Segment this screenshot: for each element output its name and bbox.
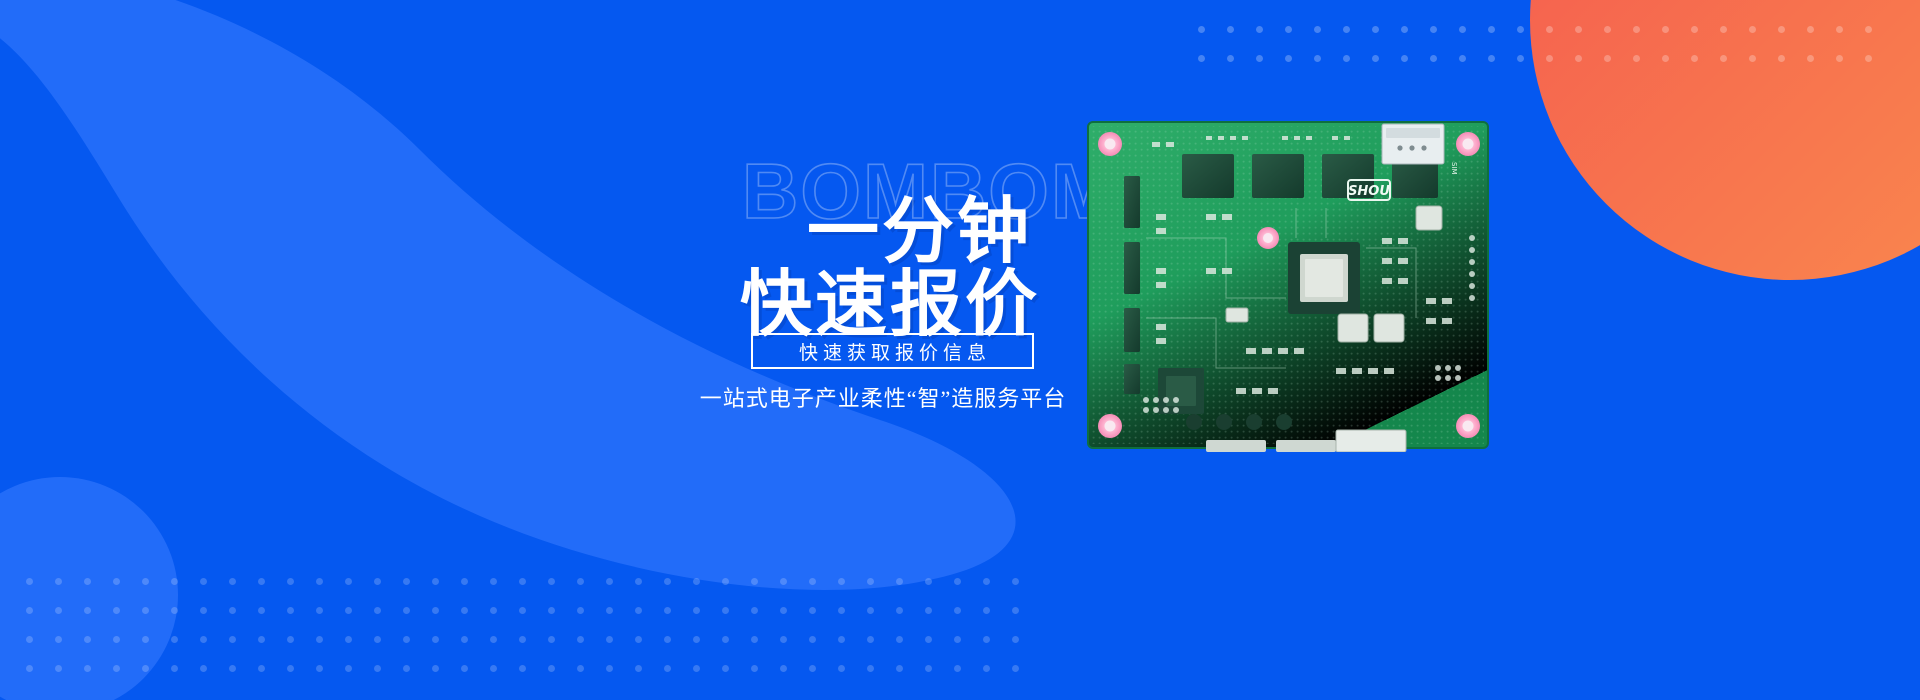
tagline: 一站式电子产业柔性“智”造服务平台 [683,381,1083,413]
pcb-qfp-chip [1158,368,1204,414]
pcb-main-processor [1288,242,1360,314]
get-quote-button[interactable]: 快速获取报价信息 [751,333,1034,369]
pcb-board-image: SIM SHOU [1086,118,1492,452]
svg-text:SHOU: SHOU [1348,184,1390,199]
headline-line-2: 快速报价 [740,269,1040,342]
headline-line-1: 一分钟 [740,196,1040,269]
promo-banner: BOMBOM 一分钟 快速报价 快速获取报价信息 一站式电子产业柔性“智”造服务… [0,0,1920,700]
hero-content: BOMBOM 一分钟 快速报价 快速获取报价信息 一站式电子产业柔性“智”造服务… [0,0,1920,700]
pcb-sim-label: SIM [1450,162,1458,175]
page-title: 一分钟 快速报价 [740,196,1040,343]
pcb-board-svg: SIM SHOU [1086,118,1492,452]
get-quote-button-label: 快速获取报价信息 [794,338,991,365]
